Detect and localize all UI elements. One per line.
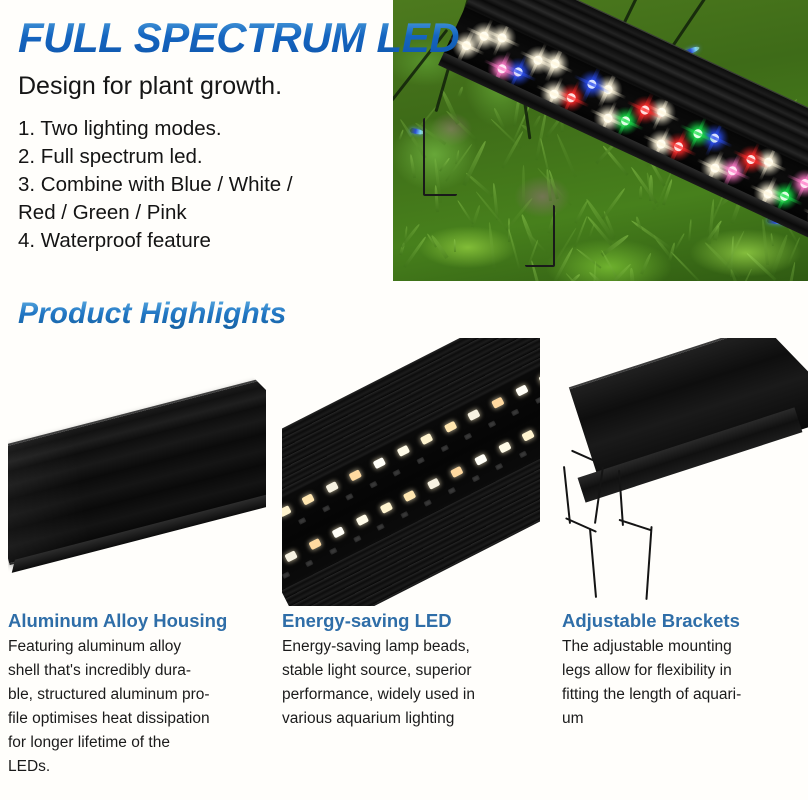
list-item: 2. Full spectrum led. <box>18 143 378 171</box>
led-strip-closeup <box>282 338 540 606</box>
bracket-wire-5 <box>589 528 597 598</box>
page-subtitle: Design for plant growth. <box>18 72 282 101</box>
highlight-heading: Adjustable Brackets <box>562 610 808 632</box>
section-title-product-highlights: Product Highlights <box>18 297 286 331</box>
feature-list: 1. Two lighting modes. 2. Full spectrum … <box>18 115 378 255</box>
bracket-wire-3 <box>563 466 571 524</box>
highlight-card-aluminum-alloy-housing: Aluminum Alloy Housing Featuring aluminu… <box>8 338 266 779</box>
highlight-body: Energy-saving lamp beads, stable light s… <box>282 635 530 731</box>
highlight-body: The adjustable mounting legs allow for f… <box>562 635 808 731</box>
list-item: 1. Two lighting modes. <box>18 115 378 143</box>
infographic-page: FULL SPECTRUM LED Design for plant growt… <box>0 0 808 800</box>
highlight-heading: Aluminum Alloy Housing <box>8 610 266 632</box>
bar-corner-cut <box>214 338 266 390</box>
bracket-wire-4 <box>565 517 597 533</box>
product-highlights-row: Aluminum Alloy Housing Featuring aluminu… <box>0 338 808 800</box>
aluminum-alloy-housing-photo <box>8 338 266 606</box>
led-strip-bead-face <box>282 359 540 591</box>
mounting-leg-right <box>525 205 555 267</box>
highlight-card-energy-saving-led: Energy-saving LED Energy-saving lamp bea… <box>282 338 540 731</box>
highlight-body: Featuring aluminum alloy shell that's in… <box>8 635 256 779</box>
list-item: 4. Waterproof feature <box>18 227 378 255</box>
mounting-leg-left <box>423 118 457 196</box>
energy-saving-led-photo <box>282 338 540 606</box>
aluminum-bar-shape <box>8 373 266 565</box>
adjustable-brackets-photo <box>562 338 808 606</box>
bracket-wire-8 <box>645 526 652 600</box>
list-item: 3. Combine with Blue / White / Red / Gre… <box>18 171 378 227</box>
highlight-card-adjustable-brackets: Adjustable Brackets The adjustable mount… <box>562 338 808 731</box>
highlight-heading: Energy-saving LED <box>282 610 540 632</box>
page-title: FULL SPECTRUM LED <box>18 14 459 62</box>
